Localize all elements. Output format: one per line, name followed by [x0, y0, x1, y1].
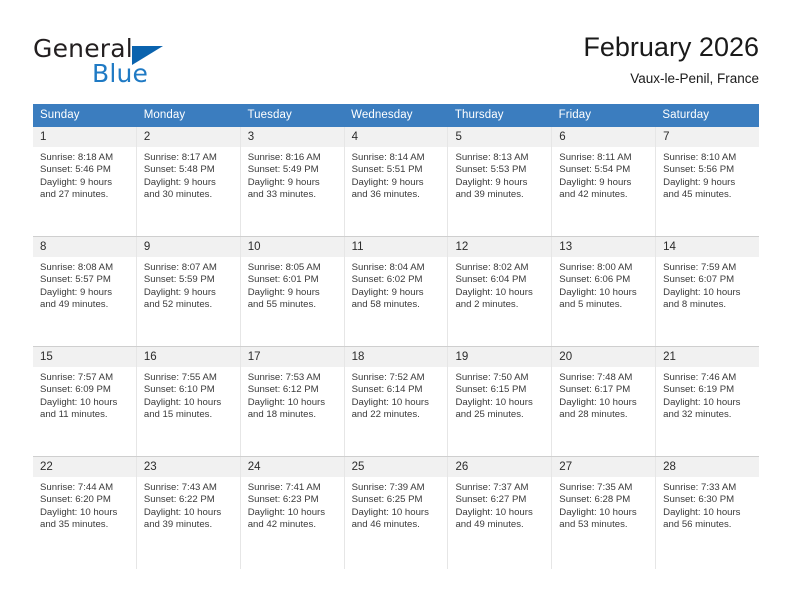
sunrise-text: Sunrise: 8:10 AM	[663, 152, 755, 164]
sunset-text: Sunset: 6:25 PM	[352, 494, 444, 506]
calendar-week-row: 15Sunrise: 7:57 AMSunset: 6:09 PMDayligh…	[33, 347, 759, 457]
day-details: Sunrise: 7:57 AMSunset: 6:09 PMDaylight:…	[33, 367, 136, 456]
day-cell[interactable]: 20Sunrise: 7:48 AMSunset: 6:17 PMDayligh…	[552, 347, 656, 456]
daylight-text-line1: Daylight: 9 hours	[352, 177, 444, 189]
sunrise-text: Sunrise: 8:02 AM	[455, 262, 547, 274]
daylight-text-line1: Daylight: 10 hours	[455, 397, 547, 409]
daylight-text-line1: Daylight: 10 hours	[248, 397, 340, 409]
sunset-text: Sunset: 6:27 PM	[455, 494, 547, 506]
sunset-text: Sunset: 6:28 PM	[559, 494, 651, 506]
daylight-text-line1: Daylight: 9 hours	[40, 177, 132, 189]
daylight-text-line2: and 11 minutes.	[40, 409, 132, 421]
daylight-text-line2: and 8 minutes.	[663, 299, 755, 311]
daylight-text-line1: Daylight: 10 hours	[248, 507, 340, 519]
day-cell[interactable]: 11Sunrise: 8:04 AMSunset: 6:02 PMDayligh…	[345, 237, 449, 346]
daylight-text-line2: and 53 minutes.	[559, 519, 651, 531]
day-details: Sunrise: 7:55 AMSunset: 6:10 PMDaylight:…	[137, 367, 240, 456]
daylight-text-line2: and 15 minutes.	[144, 409, 236, 421]
day-number: 20	[552, 347, 655, 367]
sunset-text: Sunset: 6:17 PM	[559, 384, 651, 396]
daylight-text-line2: and 2 minutes.	[455, 299, 547, 311]
day-details: Sunrise: 8:11 AMSunset: 5:54 PMDaylight:…	[552, 147, 655, 236]
day-details: Sunrise: 8:13 AMSunset: 5:53 PMDaylight:…	[448, 147, 551, 236]
day-number: 14	[656, 237, 759, 257]
day-details: Sunrise: 7:48 AMSunset: 6:17 PMDaylight:…	[552, 367, 655, 456]
sunset-text: Sunset: 6:14 PM	[352, 384, 444, 396]
brand-logo[interactable]: General Blue	[33, 34, 253, 96]
day-details: Sunrise: 8:18 AMSunset: 5:46 PMDaylight:…	[33, 147, 136, 236]
sunrise-text: Sunrise: 7:48 AM	[559, 372, 651, 384]
daylight-text-line1: Daylight: 9 hours	[455, 177, 547, 189]
day-cell[interactable]: 23Sunrise: 7:43 AMSunset: 6:22 PMDayligh…	[137, 457, 241, 569]
daylight-text-line1: Daylight: 10 hours	[455, 287, 547, 299]
sunrise-text: Sunrise: 8:04 AM	[352, 262, 444, 274]
daylight-text-line1: Daylight: 10 hours	[40, 507, 132, 519]
page-header: General Blue February 2026 Vaux-le-Penil…	[33, 30, 759, 100]
sunset-text: Sunset: 6:30 PM	[663, 494, 755, 506]
sunrise-text: Sunrise: 8:07 AM	[144, 262, 236, 274]
day-number: 8	[33, 237, 136, 257]
sunrise-text: Sunrise: 8:11 AM	[559, 152, 651, 164]
sunset-text: Sunset: 5:51 PM	[352, 164, 444, 176]
day-number: 7	[656, 127, 759, 147]
daylight-text-line1: Daylight: 10 hours	[144, 397, 236, 409]
day-number: 24	[241, 457, 344, 477]
daylight-text-line1: Daylight: 9 hours	[248, 287, 340, 299]
sunrise-text: Sunrise: 8:13 AM	[455, 152, 547, 164]
sunrise-text: Sunrise: 7:35 AM	[559, 482, 651, 494]
day-number: 17	[241, 347, 344, 367]
day-details: Sunrise: 8:02 AMSunset: 6:04 PMDaylight:…	[448, 257, 551, 346]
sunset-text: Sunset: 5:48 PM	[144, 164, 236, 176]
day-cell[interactable]: 14Sunrise: 7:59 AMSunset: 6:07 PMDayligh…	[656, 237, 759, 346]
daylight-text-line1: Daylight: 10 hours	[352, 507, 444, 519]
sunrise-text: Sunrise: 7:39 AM	[352, 482, 444, 494]
day-number: 12	[448, 237, 551, 257]
sunrise-text: Sunrise: 8:16 AM	[248, 152, 340, 164]
day-details: Sunrise: 7:59 AMSunset: 6:07 PMDaylight:…	[656, 257, 759, 346]
day-cell[interactable]: 7Sunrise: 8:10 AMSunset: 5:56 PMDaylight…	[656, 127, 759, 236]
day-details: Sunrise: 7:37 AMSunset: 6:27 PMDaylight:…	[448, 477, 551, 569]
day-number: 9	[137, 237, 240, 257]
daylight-text-line2: and 22 minutes.	[352, 409, 444, 421]
day-details: Sunrise: 7:53 AMSunset: 6:12 PMDaylight:…	[241, 367, 344, 456]
day-number: 13	[552, 237, 655, 257]
sunset-text: Sunset: 5:57 PM	[40, 274, 132, 286]
daylight-text-line1: Daylight: 10 hours	[144, 507, 236, 519]
day-details: Sunrise: 7:33 AMSunset: 6:30 PMDaylight:…	[656, 477, 759, 569]
sunset-text: Sunset: 6:20 PM	[40, 494, 132, 506]
day-number: 3	[241, 127, 344, 147]
sunset-text: Sunset: 6:01 PM	[248, 274, 340, 286]
daylight-text-line1: Daylight: 9 hours	[663, 177, 755, 189]
day-details: Sunrise: 8:17 AMSunset: 5:48 PMDaylight:…	[137, 147, 240, 236]
sunset-text: Sunset: 6:10 PM	[144, 384, 236, 396]
day-cell[interactable]: 16Sunrise: 7:55 AMSunset: 6:10 PMDayligh…	[137, 347, 241, 456]
day-number: 4	[345, 127, 448, 147]
sunrise-text: Sunrise: 7:43 AM	[144, 482, 236, 494]
day-cell[interactable]: 17Sunrise: 7:53 AMSunset: 6:12 PMDayligh…	[241, 347, 345, 456]
daylight-text-line2: and 39 minutes.	[144, 519, 236, 531]
calendar-week-row: 22Sunrise: 7:44 AMSunset: 6:20 PMDayligh…	[33, 457, 759, 569]
day-number: 5	[448, 127, 551, 147]
day-cell[interactable]: 12Sunrise: 8:02 AMSunset: 6:04 PMDayligh…	[448, 237, 552, 346]
daylight-text-line2: and 33 minutes.	[248, 189, 340, 201]
sunset-text: Sunset: 6:09 PM	[40, 384, 132, 396]
sunrise-text: Sunrise: 7:57 AM	[40, 372, 132, 384]
day-cell[interactable]: 28Sunrise: 7:33 AMSunset: 6:30 PMDayligh…	[656, 457, 759, 569]
daylight-text-line2: and 30 minutes.	[144, 189, 236, 201]
sunrise-text: Sunrise: 7:50 AM	[455, 372, 547, 384]
day-number: 6	[552, 127, 655, 147]
sunset-text: Sunset: 5:49 PM	[248, 164, 340, 176]
day-details: Sunrise: 8:04 AMSunset: 6:02 PMDaylight:…	[345, 257, 448, 346]
daylight-text-line2: and 56 minutes.	[663, 519, 755, 531]
calendar-body: 1Sunrise: 8:18 AMSunset: 5:46 PMDaylight…	[33, 127, 759, 569]
calendar-week-row: 1Sunrise: 8:18 AMSunset: 5:46 PMDaylight…	[33, 127, 759, 237]
daylight-text-line2: and 55 minutes.	[248, 299, 340, 311]
title-block: February 2026 Vaux-le-Penil, France	[583, 30, 759, 88]
day-details: Sunrise: 7:52 AMSunset: 6:14 PMDaylight:…	[345, 367, 448, 456]
day-cell[interactable]: 10Sunrise: 8:05 AMSunset: 6:01 PMDayligh…	[241, 237, 345, 346]
daylight-text-line1: Daylight: 10 hours	[663, 287, 755, 299]
day-of-week-header-sunday: Sunday	[33, 104, 137, 127]
sunset-text: Sunset: 6:06 PM	[559, 274, 651, 286]
daylight-text-line1: Daylight: 10 hours	[559, 287, 651, 299]
sunrise-text: Sunrise: 8:18 AM	[40, 152, 132, 164]
daylight-text-line2: and 45 minutes.	[663, 189, 755, 201]
day-number: 23	[137, 457, 240, 477]
day-number: 25	[345, 457, 448, 477]
day-of-week-header-friday: Friday	[552, 104, 656, 127]
day-number: 18	[345, 347, 448, 367]
daylight-text-line1: Daylight: 10 hours	[40, 397, 132, 409]
daylight-text-line2: and 49 minutes.	[455, 519, 547, 531]
day-cell[interactable]: 25Sunrise: 7:39 AMSunset: 6:25 PMDayligh…	[345, 457, 449, 569]
sunrise-text: Sunrise: 8:14 AM	[352, 152, 444, 164]
day-cell[interactable]: 15Sunrise: 7:57 AMSunset: 6:09 PMDayligh…	[33, 347, 137, 456]
sunrise-text: Sunrise: 7:52 AM	[352, 372, 444, 384]
daylight-text-line1: Daylight: 9 hours	[559, 177, 651, 189]
daylight-text-line2: and 42 minutes.	[559, 189, 651, 201]
sunrise-text: Sunrise: 8:00 AM	[559, 262, 651, 274]
sunrise-text: Sunrise: 8:08 AM	[40, 262, 132, 274]
sunset-text: Sunset: 6:02 PM	[352, 274, 444, 286]
day-number: 10	[241, 237, 344, 257]
day-details: Sunrise: 8:10 AMSunset: 5:56 PMDaylight:…	[656, 147, 759, 236]
daylight-text-line1: Daylight: 10 hours	[352, 397, 444, 409]
day-details: Sunrise: 8:07 AMSunset: 5:59 PMDaylight:…	[137, 257, 240, 346]
daylight-text-line2: and 28 minutes.	[559, 409, 651, 421]
sunset-text: Sunset: 6:04 PM	[455, 274, 547, 286]
day-cell[interactable]: 26Sunrise: 7:37 AMSunset: 6:27 PMDayligh…	[448, 457, 552, 569]
day-details: Sunrise: 8:00 AMSunset: 6:06 PMDaylight:…	[552, 257, 655, 346]
day-of-week-header-thursday: Thursday	[448, 104, 552, 127]
daylight-text-line2: and 27 minutes.	[40, 189, 132, 201]
daylight-text-line2: and 36 minutes.	[352, 189, 444, 201]
daylight-text-line2: and 32 minutes.	[663, 409, 755, 421]
day-of-week-header-wednesday: Wednesday	[344, 104, 448, 127]
day-number: 28	[656, 457, 759, 477]
day-cell[interactable]: 9Sunrise: 8:07 AMSunset: 5:59 PMDaylight…	[137, 237, 241, 346]
day-details: Sunrise: 7:41 AMSunset: 6:23 PMDaylight:…	[241, 477, 344, 569]
day-cell[interactable]: 13Sunrise: 8:00 AMSunset: 6:06 PMDayligh…	[552, 237, 656, 346]
day-cell[interactable]: 4Sunrise: 8:14 AMSunset: 5:51 PMDaylight…	[345, 127, 449, 236]
daylight-text-line2: and 46 minutes.	[352, 519, 444, 531]
day-number: 19	[448, 347, 551, 367]
sunset-text: Sunset: 6:15 PM	[455, 384, 547, 396]
day-cell[interactable]: 24Sunrise: 7:41 AMSunset: 6:23 PMDayligh…	[241, 457, 345, 569]
daylight-text-line2: and 25 minutes.	[455, 409, 547, 421]
calendar-header-row: SundayMondayTuesdayWednesdayThursdayFrid…	[33, 104, 759, 127]
daylight-text-line2: and 39 minutes.	[455, 189, 547, 201]
day-details: Sunrise: 7:50 AMSunset: 6:15 PMDaylight:…	[448, 367, 551, 456]
sunset-text: Sunset: 6:19 PM	[663, 384, 755, 396]
sunset-text: Sunset: 6:07 PM	[663, 274, 755, 286]
day-of-week-header-tuesday: Tuesday	[240, 104, 344, 127]
sunrise-text: Sunrise: 7:44 AM	[40, 482, 132, 494]
day-cell[interactable]: 1Sunrise: 8:18 AMSunset: 5:46 PMDaylight…	[33, 127, 137, 236]
day-cell[interactable]: 22Sunrise: 7:44 AMSunset: 6:20 PMDayligh…	[33, 457, 137, 569]
day-cell[interactable]: 2Sunrise: 8:17 AMSunset: 5:48 PMDaylight…	[137, 127, 241, 236]
daylight-text-line2: and 52 minutes.	[144, 299, 236, 311]
day-details: Sunrise: 7:39 AMSunset: 6:25 PMDaylight:…	[345, 477, 448, 569]
page-title: February 2026	[583, 30, 759, 64]
daylight-text-line1: Daylight: 9 hours	[248, 177, 340, 189]
day-cell[interactable]: 21Sunrise: 7:46 AMSunset: 6:19 PMDayligh…	[656, 347, 759, 456]
daylight-text-line1: Daylight: 10 hours	[663, 507, 755, 519]
day-number: 2	[137, 127, 240, 147]
daylight-text-line2: and 49 minutes.	[40, 299, 132, 311]
sunset-text: Sunset: 5:59 PM	[144, 274, 236, 286]
day-details: Sunrise: 7:43 AMSunset: 6:22 PMDaylight:…	[137, 477, 240, 569]
daylight-text-line1: Daylight: 9 hours	[144, 177, 236, 189]
day-of-week-header-monday: Monday	[137, 104, 241, 127]
sunset-text: Sunset: 5:53 PM	[455, 164, 547, 176]
day-number: 1	[33, 127, 136, 147]
sunrise-text: Sunrise: 8:05 AM	[248, 262, 340, 274]
calendar-page: General Blue February 2026 Vaux-le-Penil…	[0, 0, 792, 612]
day-details: Sunrise: 8:14 AMSunset: 5:51 PMDaylight:…	[345, 147, 448, 236]
day-cell[interactable]: 18Sunrise: 7:52 AMSunset: 6:14 PMDayligh…	[345, 347, 449, 456]
daylight-text-line1: Daylight: 10 hours	[663, 397, 755, 409]
day-details: Sunrise: 8:05 AMSunset: 6:01 PMDaylight:…	[241, 257, 344, 346]
daylight-text-line2: and 35 minutes.	[40, 519, 132, 531]
day-details: Sunrise: 7:46 AMSunset: 6:19 PMDaylight:…	[656, 367, 759, 456]
day-number: 16	[137, 347, 240, 367]
day-number: 27	[552, 457, 655, 477]
daylight-text-line1: Daylight: 10 hours	[455, 507, 547, 519]
brand-name-blue: Blue	[92, 59, 148, 88]
sunrise-text: Sunrise: 8:17 AM	[144, 152, 236, 164]
sunset-text: Sunset: 6:23 PM	[248, 494, 340, 506]
day-of-week-header-saturday: Saturday	[655, 104, 759, 127]
sunset-text: Sunset: 6:12 PM	[248, 384, 340, 396]
sunrise-text: Sunrise: 7:55 AM	[144, 372, 236, 384]
daylight-text-line2: and 5 minutes.	[559, 299, 651, 311]
daylight-text-line1: Daylight: 10 hours	[559, 397, 651, 409]
day-number: 22	[33, 457, 136, 477]
day-number: 11	[345, 237, 448, 257]
day-cell[interactable]: 3Sunrise: 8:16 AMSunset: 5:49 PMDaylight…	[241, 127, 345, 236]
sunrise-text: Sunrise: 7:37 AM	[455, 482, 547, 494]
daylight-text-line1: Daylight: 9 hours	[352, 287, 444, 299]
sunrise-text: Sunrise: 7:41 AM	[248, 482, 340, 494]
day-details: Sunrise: 7:44 AMSunset: 6:20 PMDaylight:…	[33, 477, 136, 569]
day-details: Sunrise: 8:08 AMSunset: 5:57 PMDaylight:…	[33, 257, 136, 346]
sunset-text: Sunset: 6:22 PM	[144, 494, 236, 506]
daylight-text-line2: and 42 minutes.	[248, 519, 340, 531]
sunrise-text: Sunrise: 7:59 AM	[663, 262, 755, 274]
daylight-text-line2: and 18 minutes.	[248, 409, 340, 421]
calendar-grid: SundayMondayTuesdayWednesdayThursdayFrid…	[33, 104, 759, 569]
day-number: 26	[448, 457, 551, 477]
calendar-week-row: 8Sunrise: 8:08 AMSunset: 5:57 PMDaylight…	[33, 237, 759, 347]
daylight-text-line1: Daylight: 9 hours	[144, 287, 236, 299]
sunset-text: Sunset: 5:56 PM	[663, 164, 755, 176]
sunset-text: Sunset: 5:54 PM	[559, 164, 651, 176]
sunrise-text: Sunrise: 7:33 AM	[663, 482, 755, 494]
day-cell[interactable]: 5Sunrise: 8:13 AMSunset: 5:53 PMDaylight…	[448, 127, 552, 236]
day-details: Sunrise: 8:16 AMSunset: 5:49 PMDaylight:…	[241, 147, 344, 236]
day-cell[interactable]: 27Sunrise: 7:35 AMSunset: 6:28 PMDayligh…	[552, 457, 656, 569]
daylight-text-line1: Daylight: 9 hours	[40, 287, 132, 299]
sunrise-text: Sunrise: 7:53 AM	[248, 372, 340, 384]
day-details: Sunrise: 7:35 AMSunset: 6:28 PMDaylight:…	[552, 477, 655, 569]
daylight-text-line2: and 58 minutes.	[352, 299, 444, 311]
day-cell[interactable]: 8Sunrise: 8:08 AMSunset: 5:57 PMDaylight…	[33, 237, 137, 346]
day-cell[interactable]: 6Sunrise: 8:11 AMSunset: 5:54 PMDaylight…	[552, 127, 656, 236]
day-cell[interactable]: 19Sunrise: 7:50 AMSunset: 6:15 PMDayligh…	[448, 347, 552, 456]
day-number: 15	[33, 347, 136, 367]
day-number: 21	[656, 347, 759, 367]
sunrise-text: Sunrise: 7:46 AM	[663, 372, 755, 384]
page-subtitle-location: Vaux-le-Penil, France	[583, 70, 759, 88]
daylight-text-line1: Daylight: 10 hours	[559, 507, 651, 519]
sunset-text: Sunset: 5:46 PM	[40, 164, 132, 176]
